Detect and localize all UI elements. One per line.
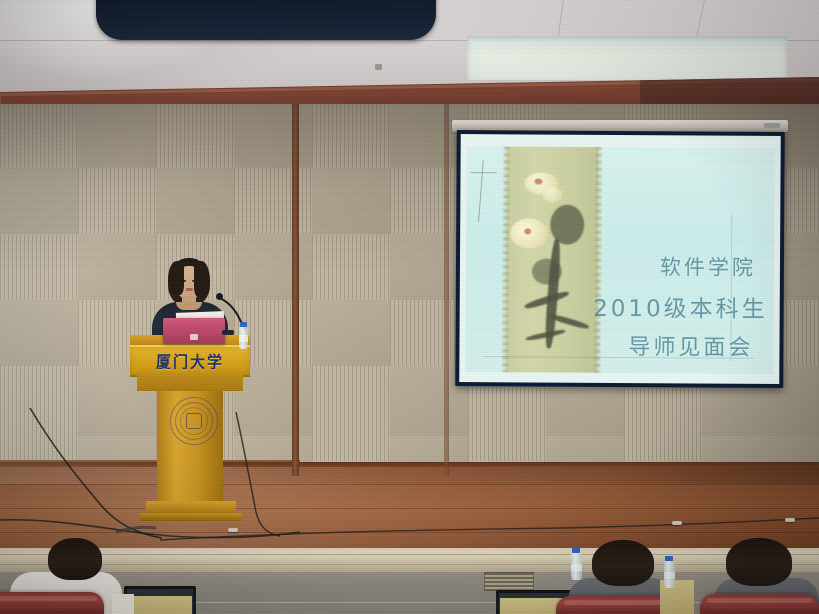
branch-foliage (532, 258, 562, 284)
wall-panel (312, 300, 390, 366)
artwork-line (471, 172, 497, 173)
slide-title-line1: 软件学院 (660, 251, 756, 282)
chair-highlight (0, 596, 97, 601)
podium-apron (137, 373, 243, 391)
water-bottle-audience (571, 548, 583, 582)
chair-highlight (707, 598, 812, 603)
ceiling-seam (696, 0, 705, 37)
wall-panel (0, 168, 78, 234)
blossom (542, 187, 562, 203)
artwork-line (478, 160, 484, 222)
housing-label (764, 123, 780, 128)
presenter-hair-left (168, 261, 184, 295)
wall-panel (78, 168, 156, 234)
wall-panel (234, 168, 312, 234)
wall-panel (234, 104, 312, 168)
audience-member-head (48, 538, 102, 580)
wall-panel (312, 168, 390, 234)
branch-foliage (550, 205, 584, 245)
blossom-center (534, 178, 542, 184)
screen-surface: 软件学院 2010级本科生 导师见面会 (459, 134, 781, 384)
wall-panel (78, 104, 156, 168)
microphone-base (222, 330, 234, 335)
bottle-label (664, 572, 675, 579)
ceiling-seam (557, 0, 564, 40)
audience-paper (112, 594, 134, 614)
audience-member-head (726, 538, 792, 586)
wall-panel (234, 234, 312, 300)
projected-slide: 软件学院 2010级本科生 导师见面会 (465, 146, 774, 374)
slide-title-line2: 2010级本科生 (593, 289, 768, 324)
presenter-collar (176, 302, 202, 310)
blossom-center (524, 228, 531, 234)
wall-panel (312, 234, 390, 300)
laptop-logo (190, 334, 198, 340)
wall-panel (156, 168, 234, 234)
wall-panel (0, 104, 78, 168)
bottle-cap (240, 322, 247, 327)
bottle-cap (665, 556, 673, 561)
audience-foreground (0, 520, 819, 614)
microphone-head (216, 293, 223, 300)
ceiling-sensor (375, 64, 382, 70)
bottle-cap (572, 548, 580, 553)
presenter-hair-right (194, 261, 210, 297)
wall-panel (312, 104, 390, 168)
ceiling-light-recess (467, 36, 787, 80)
wall-panel (0, 234, 78, 300)
wall-panel (156, 104, 234, 168)
water-bottle-audience (664, 556, 676, 590)
wall-panel (78, 234, 156, 300)
audience-chair (700, 594, 819, 614)
bottle-label (239, 335, 248, 342)
wall-panel (0, 300, 78, 366)
lecture-hall-photo: 软件学院 2010级本科生 导师见面会 厦门大学 (0, 0, 819, 614)
podium-sign-text: 厦门大学 (156, 350, 224, 372)
audience-member-head (592, 540, 654, 586)
water-bottle-podium (239, 322, 249, 350)
slide-title-line3: 导师见面会 (628, 329, 753, 362)
audience-desk (128, 596, 192, 614)
bottle-label (571, 564, 582, 571)
projection-screen: 软件学院 2010级本科生 导师见面会 (455, 130, 785, 388)
ceiling-dark-panel (96, 0, 436, 40)
audience-chair (0, 592, 104, 614)
presenter-mouth (186, 288, 193, 291)
laptop (163, 318, 225, 344)
chair-highlight (564, 600, 675, 605)
